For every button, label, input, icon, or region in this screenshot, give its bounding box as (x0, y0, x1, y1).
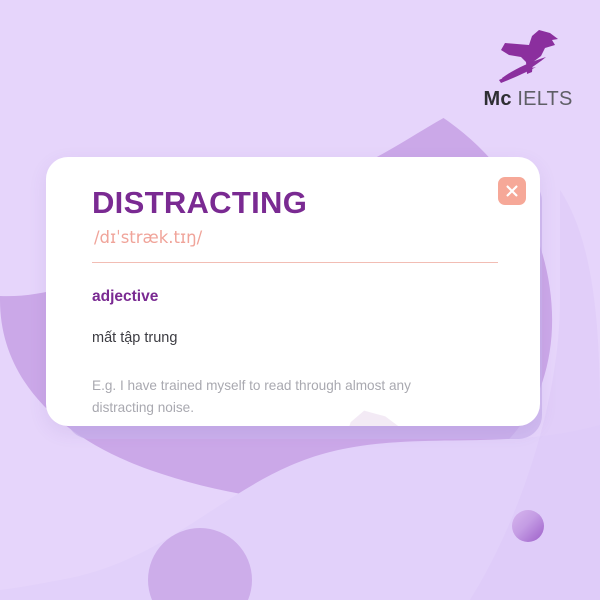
brand-name: Mc IELTS (476, 89, 580, 109)
brand-name-ielts: IELTS (517, 88, 572, 110)
brand-name-mc: Mc (483, 88, 511, 110)
brand-logo: Mc IELTS (476, 26, 580, 118)
card-content: DISTRACTING /dɪˈstræk.tɪŋ/ adjective mất… (46, 157, 540, 419)
gradient-dot (512, 510, 544, 542)
part-of-speech: adjective (92, 288, 496, 306)
hummingbird-icon (489, 26, 567, 88)
phonetic-transcription: /dɪˈstræk.tɪŋ/ (94, 228, 496, 248)
vocabulary-card: DISTRACTING /dɪˈstræk.tɪŋ/ adjective mất… (46, 157, 540, 426)
word-title: DISTRACTING (92, 187, 496, 220)
word-meaning: mất tập trung (92, 330, 496, 346)
slide-canvas: Mc IELTS DISTRACTING /dɪˈstræk.tɪŋ/ adje… (0, 0, 600, 600)
card-divider (92, 262, 498, 263)
example-sentence: E.g. I have trained myself to read throu… (92, 375, 452, 419)
